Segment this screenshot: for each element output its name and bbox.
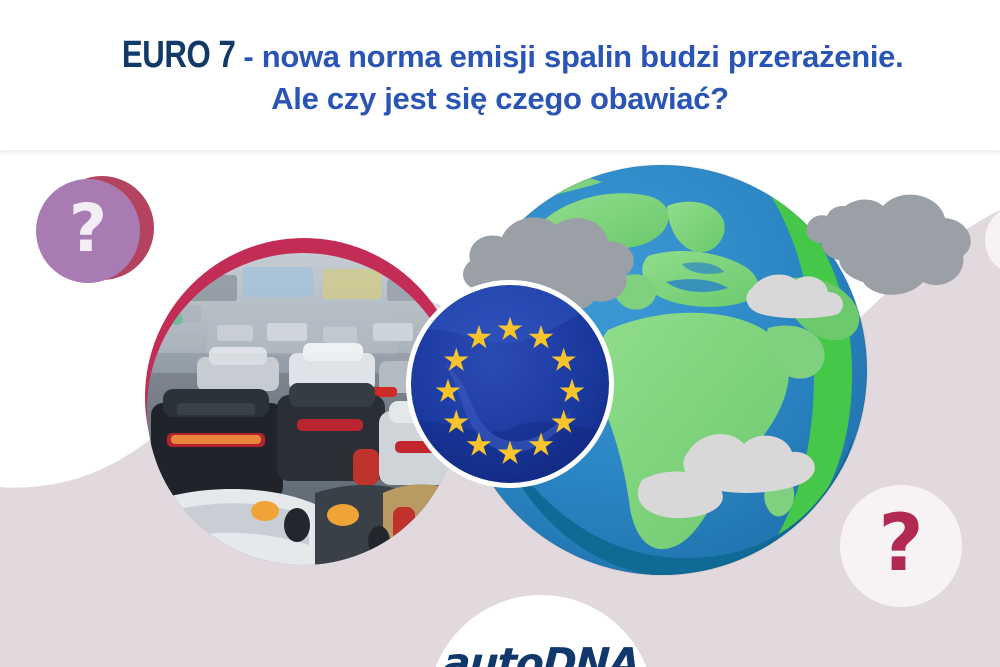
question-mark-icon: ? <box>878 505 923 583</box>
european-union-flag <box>404 278 616 490</box>
question-mark-purple: ? <box>36 176 154 288</box>
headline-line-1: EURO 7 - nowa norma emisji spalin budzi … <box>97 33 904 78</box>
autodna-logo-text: autoDNA <box>442 639 641 667</box>
question-mark-icon: ? <box>69 196 107 262</box>
euro7-article-banner: EURO 7 - nowa norma emisji spalin budzi … <box>0 0 1000 667</box>
pollution-cloud-icon <box>795 182 985 322</box>
question-mark-purple-disc: ? <box>36 179 140 283</box>
artwork-stage: ? <box>0 150 1000 667</box>
headline-line-2: Ale czy jest się czego obawiać? <box>271 81 729 118</box>
headline-rest-label: - nowa norma emisji spalin budzi przeraż… <box>235 39 903 74</box>
headline-euro7-label: EURO 7 <box>122 33 236 78</box>
banner-header: EURO 7 - nowa norma emisji spalin budzi … <box>0 0 1000 150</box>
